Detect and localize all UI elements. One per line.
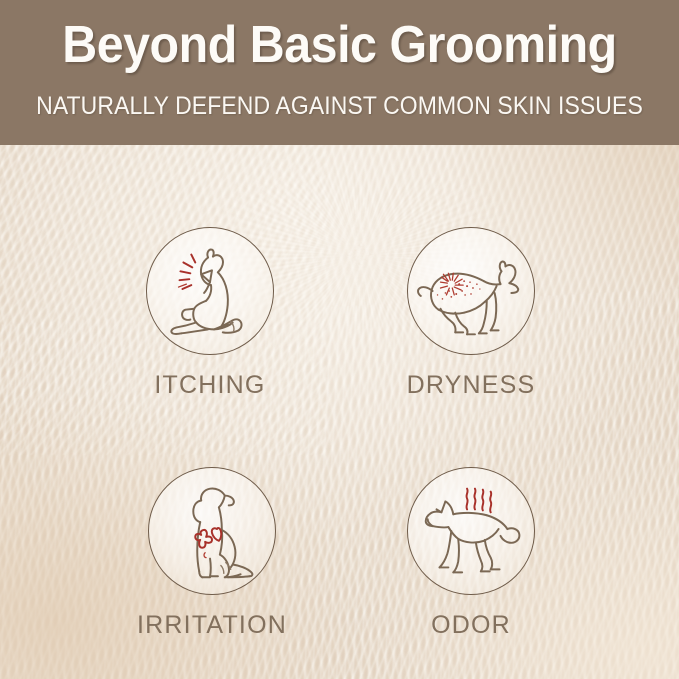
itching-icon-circle	[146, 227, 274, 355]
header-band: Beyond Basic Grooming NATURALLY DEFEND A…	[0, 0, 679, 145]
itching-label: ITCHING	[100, 371, 320, 400]
dryness-label: DRYNESS	[361, 371, 581, 400]
dog-dry-flaky-skin-icon	[408, 228, 534, 354]
odor-icon-circle	[407, 467, 535, 595]
irritation-label: IRRITATION	[102, 611, 322, 640]
feature-itching[interactable]: ITCHING	[100, 227, 320, 400]
irritation-icon-circle	[148, 467, 276, 595]
dryness-icon-circle	[407, 227, 535, 355]
feature-odor[interactable]: ODOR	[361, 467, 581, 640]
feature-irritation[interactable]: IRRITATION	[102, 467, 322, 640]
dog-scratching-icon	[147, 228, 273, 354]
odor-label: ODOR	[361, 611, 581, 640]
page-title: Beyond Basic Grooming	[24, 18, 655, 73]
grooming-infographic: Beyond Basic Grooming NATURALLY DEFEND A…	[0, 0, 679, 679]
feature-dryness[interactable]: DRYNESS	[361, 227, 581, 400]
page-subtitle: NATURALLY DEFEND AGAINST COMMON SKIN ISS…	[27, 92, 652, 121]
dog-odor-waves-icon	[408, 468, 534, 594]
dog-irritated-patches-icon	[149, 468, 275, 594]
